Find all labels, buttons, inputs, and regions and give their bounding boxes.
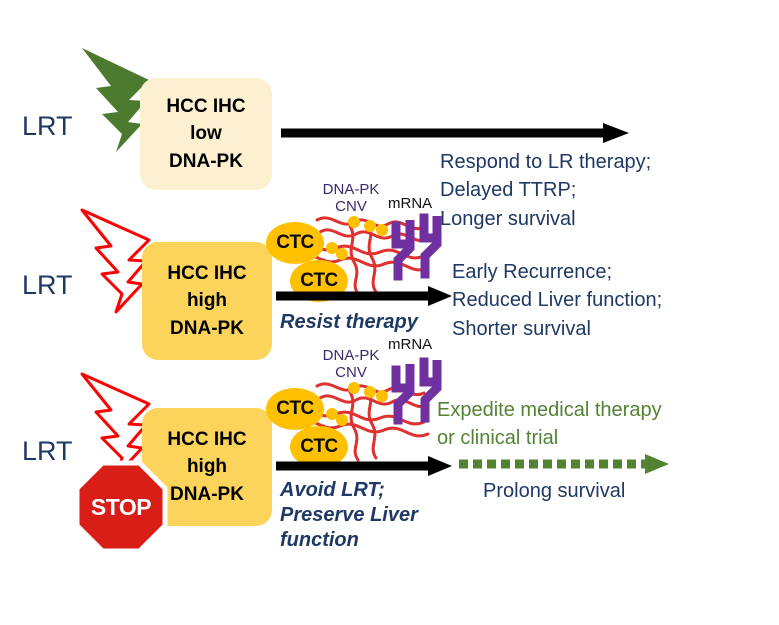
mrna-label-row2: mRNA <box>388 195 432 212</box>
outcome-line: Expedite medical therapy <box>437 396 662 424</box>
lrt-label-row3: LRT <box>22 438 73 465</box>
ctc-dna-cluster-row3: CTC CTC DNA-PK CNV mRNA <box>262 348 462 468</box>
hcc-box-line1: HCC IHC <box>166 93 245 121</box>
hcc-box-line2: low <box>190 120 222 148</box>
hcc-box-line3: DNA-PK <box>170 315 244 343</box>
hcc-box-low-dnapk: HCC IHC low DNA-PK <box>140 78 272 190</box>
hcc-box-line2: high <box>187 453 227 481</box>
outcome-line: Shorter survival <box>452 315 662 343</box>
outcome-text-row2: Early Recurrence; Reduced Liver function… <box>452 258 662 343</box>
outcome-line: or clinical trial <box>437 424 662 452</box>
action-caption-line: function <box>280 528 418 553</box>
hcc-box-line1: HCC IHC <box>167 426 246 454</box>
outcome-line: Longer survival <box>440 205 651 233</box>
solid-arrow-row1 <box>281 120 629 146</box>
lrt-label-row1: LRT <box>22 113 73 140</box>
hcc-box-line2: high <box>187 287 227 315</box>
ctc-circle: CTC <box>266 222 324 264</box>
solid-arrow-row3 <box>276 455 452 477</box>
outcome-line: Respond to LR therapy; <box>440 148 651 176</box>
mrna-squiggle-icon-row2 <box>390 214 446 282</box>
outcome-text-row3-green: Expedite medical therapy or clinical tri… <box>437 396 662 453</box>
hcc-box-line3: DNA-PK <box>170 481 244 509</box>
action-caption-row2: Resist therapy <box>280 310 418 335</box>
ctc-dna-cluster-row2: CTC CTC DNA-PK CNV mRNA <box>262 182 462 302</box>
outcome-text-row1: Respond to LR therapy; Delayed TTRP; Lon… <box>440 148 651 233</box>
action-caption-row3: Avoid LRT; Preserve Liver function <box>280 478 418 553</box>
action-caption-line: Preserve Liver <box>280 503 418 528</box>
hcc-box-line1: HCC IHC <box>167 260 246 288</box>
secondary-outcome-row3: Prolong survival <box>483 477 625 505</box>
lrt-label-row2: LRT <box>22 272 73 299</box>
outcome-line: Early Recurrence; <box>452 258 662 286</box>
solid-arrow-row2 <box>276 285 452 307</box>
hcc-box-high-dnapk-row2: HCC IHC high DNA-PK <box>142 242 272 360</box>
ctc-circle: CTC <box>266 388 324 430</box>
ctc-label: CTC <box>276 398 314 420</box>
figure-canvas: LRT HCC IHC low DNA-PK Respond to LR the… <box>0 0 779 625</box>
action-caption-line: Avoid LRT; <box>280 478 418 503</box>
dashed-green-arrow-row3 <box>459 453 669 475</box>
ctc-label: CTC <box>276 232 314 254</box>
action-caption-line: Resist therapy <box>280 310 418 335</box>
stop-sign-label: STOP <box>91 494 151 521</box>
mrna-label-row3: mRNA <box>388 336 432 353</box>
hcc-box-line3: DNA-PK <box>169 148 243 176</box>
stop-sign-icon: STOP <box>76 462 166 552</box>
outcome-line: Prolong survival <box>483 477 625 505</box>
outcome-line: Delayed TTRP; <box>440 176 651 204</box>
outcome-line: Reduced Liver function; <box>452 286 662 314</box>
